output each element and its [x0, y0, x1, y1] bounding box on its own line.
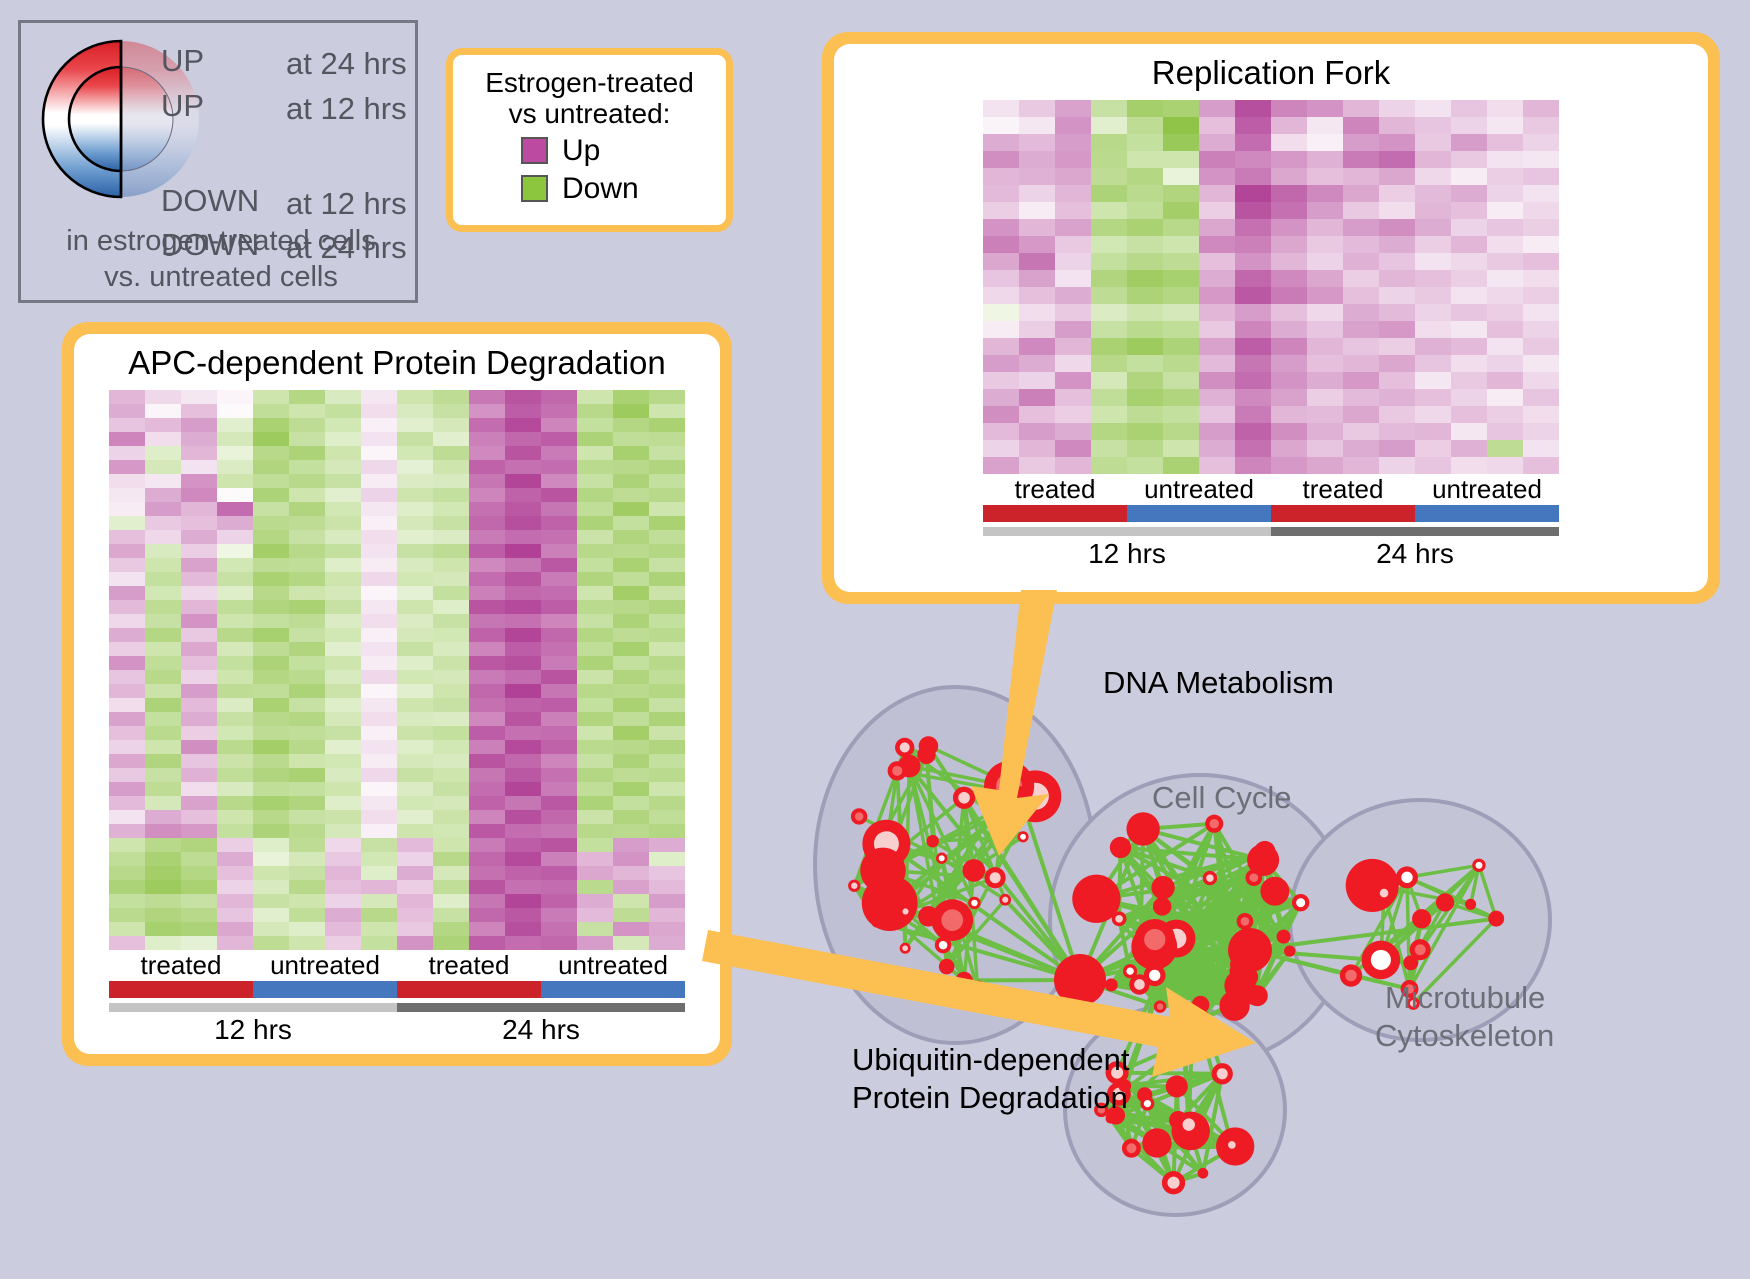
- heatmap-cell: [289, 628, 325, 642]
- network-node[interactable]: [936, 853, 947, 864]
- heatmap-cell: [1055, 389, 1091, 406]
- heatmap-cell: [1271, 236, 1307, 253]
- heatmap-cell: [361, 558, 397, 572]
- heatmap-cell: [217, 586, 253, 600]
- heatmap-cell: [541, 656, 577, 670]
- network-node[interactable]: [1177, 1113, 1201, 1137]
- network-node[interactable]: [1412, 909, 1431, 928]
- group-label: treated: [983, 474, 1127, 505]
- heatmap-cell: [109, 894, 145, 908]
- heatmap-cell: [289, 670, 325, 684]
- heatmap-cell: [1127, 389, 1163, 406]
- heatmap-cell: [433, 502, 469, 516]
- heatmap-cell: [1379, 219, 1415, 236]
- heatmap-cell: [541, 474, 577, 488]
- heatmap-cell: [469, 810, 505, 824]
- heatmap-cell: [613, 782, 649, 796]
- network-node[interactable]: [917, 746, 935, 764]
- heatmap-cell: [217, 936, 253, 950]
- heatmap-cell: [217, 712, 253, 726]
- heatmap-cell: [397, 418, 433, 432]
- heatmap-cell: [1127, 134, 1163, 151]
- heatmap-cell: [145, 432, 181, 446]
- heatmap-cell: [505, 474, 541, 488]
- heatmap-cell: [1199, 151, 1235, 168]
- heatmap-cell: [145, 684, 181, 698]
- heatmap-cell: [397, 740, 433, 754]
- heatmap-cell: [325, 908, 361, 922]
- heatmap-cell: [1451, 304, 1487, 321]
- heatmap-cell: [541, 866, 577, 880]
- heatmap-cell: [181, 824, 217, 838]
- heatmap-cell: [505, 768, 541, 782]
- heatmap-cell: [1199, 389, 1235, 406]
- heatmap-cell: [289, 418, 325, 432]
- network-node[interactable]: [1245, 869, 1262, 886]
- heatmap-cell: [577, 488, 613, 502]
- heatmap-cell: [361, 894, 397, 908]
- network-node[interactable]: [1140, 1097, 1154, 1111]
- heatmap-cell: [613, 488, 649, 502]
- network-node[interactable]: [1260, 877, 1289, 906]
- heatmap-cell: [1091, 185, 1127, 202]
- heatmap-cell: [649, 432, 685, 446]
- heatmap-cell: [541, 824, 577, 838]
- heatmap-cell: [1127, 406, 1163, 423]
- heatmap-cell: [505, 922, 541, 936]
- heatmap-cell: [541, 628, 577, 642]
- heatmap-cell: [1163, 185, 1199, 202]
- network-node[interactable]: [895, 738, 914, 757]
- heatmap-cell: [1415, 338, 1451, 355]
- heatmap-cell: [1091, 151, 1127, 168]
- network-node[interactable]: [1472, 859, 1485, 872]
- heatmap-cell: [433, 768, 469, 782]
- heatmap-cell: [1523, 270, 1559, 287]
- heatmap-cell: [181, 754, 217, 768]
- heatmap-cell: [109, 390, 145, 404]
- heatmap-cell: [505, 810, 541, 824]
- network-node[interactable]: [1362, 941, 1401, 980]
- heatmap-cell: [613, 600, 649, 614]
- heatmap-cell: [1127, 117, 1163, 134]
- heatmap-cell: [397, 600, 433, 614]
- network-node[interactable]: [1110, 837, 1131, 858]
- node-outer: [1260, 877, 1289, 906]
- heatmap-cell: [541, 530, 577, 544]
- legend-spacer: [161, 129, 411, 185]
- heatmap-cell: [325, 474, 361, 488]
- heatmap-cell: [1451, 151, 1487, 168]
- heatmap-cell: [613, 684, 649, 698]
- heatmap-cell: [397, 838, 433, 852]
- network-node[interactable]: [1122, 1139, 1141, 1158]
- panel-title: Replication Fork: [1152, 54, 1390, 92]
- heatmap-cell: [1307, 389, 1343, 406]
- heatmap-cell: [253, 768, 289, 782]
- heatmap-cell: [577, 642, 613, 656]
- heatmap-cell: [181, 502, 217, 516]
- heatmap-cell: [613, 516, 649, 530]
- heatmap-cell: [1199, 219, 1235, 236]
- heatmap-cell: [983, 253, 1019, 270]
- heatmap-cell: [469, 838, 505, 852]
- timepoint-label: 24 hrs: [1271, 536, 1559, 570]
- heatmap-cell: [181, 852, 217, 866]
- heatmap-cell: [649, 824, 685, 838]
- heatmap-cell: [1415, 423, 1451, 440]
- heatmap-cell: [1379, 202, 1415, 219]
- network-node[interactable]: [1162, 1171, 1185, 1194]
- heatmap-cell: [577, 838, 613, 852]
- heatmap-cell: [145, 530, 181, 544]
- heatmap-cell: [145, 656, 181, 670]
- network-node[interactable]: [1346, 859, 1399, 912]
- heatmap-cell: [577, 936, 613, 950]
- heatmap-cell: [1271, 406, 1307, 423]
- heatmap-cell: [289, 614, 325, 628]
- heatmap-cell: [1091, 321, 1127, 338]
- heatmap-cell: [253, 558, 289, 572]
- heatmap-cell: [361, 698, 397, 712]
- network-node[interactable]: [968, 897, 981, 910]
- heatmap-cell: [1199, 100, 1235, 117]
- network-node[interactable]: [985, 867, 1006, 888]
- heatmap-cell: [397, 894, 433, 908]
- heatmap-cell: [649, 670, 685, 684]
- heatmap-cell: [1271, 355, 1307, 372]
- heatmap-cell: [505, 824, 541, 838]
- heatmap-cell: [577, 446, 613, 460]
- heatmap-cell: [361, 446, 397, 460]
- heatmap-cell: [361, 684, 397, 698]
- heatmap-cell: [983, 287, 1019, 304]
- heatmap-cell: [1091, 406, 1127, 423]
- heatmap-cell: [289, 936, 325, 950]
- heatmap-cell: [325, 390, 361, 404]
- heatmap-cell: [181, 516, 217, 530]
- up-down-key-inner: Estrogen-treated vs untreated: Up Down: [453, 55, 726, 225]
- heatmap-cell: [289, 586, 325, 600]
- node-inner: [1127, 1143, 1137, 1153]
- heatmap-cell: [1235, 355, 1271, 372]
- heatmap-cell: [505, 880, 541, 894]
- heatmap-cell: [397, 656, 433, 670]
- heatmap-cell: [325, 614, 361, 628]
- heatmap-cell: [1451, 389, 1487, 406]
- network-node[interactable]: [927, 835, 939, 847]
- heatmap-cell: [613, 460, 649, 474]
- network-node[interactable]: [1284, 945, 1295, 956]
- heatmap-cell: [1271, 389, 1307, 406]
- heatmap-cell: [649, 838, 685, 852]
- heatmap-cell: [217, 460, 253, 474]
- heatmap-cell: [397, 530, 433, 544]
- heatmap-cell: [253, 782, 289, 796]
- network-node[interactable]: [851, 808, 867, 824]
- network-node[interactable]: [1142, 1128, 1171, 1157]
- heatmap-cell: [325, 894, 361, 908]
- heatmap-cell: [325, 880, 361, 894]
- heatmap-cell: [1019, 100, 1055, 117]
- heatmap-cell: [983, 202, 1019, 219]
- heatmap-cell: [109, 768, 145, 782]
- heatmap-cell: [983, 406, 1019, 423]
- network-node[interactable]: [1205, 815, 1223, 833]
- heatmap-cell: [505, 838, 541, 852]
- network-node[interactable]: [1153, 897, 1172, 916]
- network-node[interactable]: [1396, 866, 1418, 888]
- node-outer: [1142, 1128, 1171, 1157]
- heatmap-cell: [541, 642, 577, 656]
- heatmap-cell: [433, 740, 469, 754]
- group-label: untreated: [1127, 474, 1271, 505]
- heatmap-cell: [1307, 287, 1343, 304]
- heatmap-cell: [109, 810, 145, 824]
- heatmap-cell: [613, 558, 649, 572]
- heatmap-cell: [289, 544, 325, 558]
- heatmap-cell: [109, 740, 145, 754]
- heatmap-cell: [1271, 440, 1307, 457]
- heatmap-cell: [1523, 134, 1559, 151]
- heatmap-cell: [325, 726, 361, 740]
- heatmap-cell: [433, 418, 469, 432]
- node-inner: [1144, 1100, 1151, 1107]
- heatmap-cell: [505, 628, 541, 642]
- network-node[interactable]: [1151, 876, 1174, 899]
- heatmap-cell: [649, 768, 685, 782]
- heatmap-cell: [1487, 457, 1523, 474]
- heatmap-cell: [1091, 168, 1127, 185]
- heatmap-cell: [577, 908, 613, 922]
- heatmap-cell: [1163, 440, 1199, 457]
- heatmap-cell: [505, 726, 541, 740]
- network-node[interactable]: [1254, 841, 1275, 862]
- heatmap-cell: [181, 600, 217, 614]
- heatmap-cell: [217, 614, 253, 628]
- network-node[interactable]: [1203, 871, 1217, 885]
- network-node[interactable]: [1436, 893, 1454, 911]
- heatmap-cell: [1055, 423, 1091, 440]
- heatmap-cell: [181, 404, 217, 418]
- heatmap-cell: [1487, 236, 1523, 253]
- heatmap-cell: [541, 782, 577, 796]
- network-node[interactable]: [1277, 930, 1291, 944]
- heatmap-cell: [541, 572, 577, 586]
- heatmap-cell: [505, 586, 541, 600]
- heatmap-cell: [469, 698, 505, 712]
- heatmap-cell: [145, 726, 181, 740]
- heatmap-cell: [1523, 185, 1559, 202]
- network-node[interactable]: [1225, 1138, 1240, 1153]
- network-node[interactable]: [963, 859, 986, 882]
- heatmap-cell: [1127, 270, 1163, 287]
- treatment-color-bar: [109, 981, 685, 998]
- network-node[interactable]: [1465, 899, 1476, 910]
- heatmap-cell: [505, 796, 541, 810]
- heatmap-cell: [1199, 355, 1235, 372]
- heatmap-cell: [983, 355, 1019, 372]
- heatmap-cell: [289, 754, 325, 768]
- group-label-row: treateduntreatedtreateduntreated: [109, 950, 685, 981]
- heatmap-cell: [145, 922, 181, 936]
- heatmap-cell: [1019, 457, 1055, 474]
- heatmap-cell: [1451, 355, 1487, 372]
- heatmap-cell: [433, 852, 469, 866]
- heatmap-cell: [1487, 253, 1523, 270]
- heatmap-cell: [145, 502, 181, 516]
- heatmap-cell: [397, 502, 433, 516]
- heatmap-cell: [1091, 100, 1127, 117]
- heatmap-cell: [397, 446, 433, 460]
- heatmap-cell: [1415, 389, 1451, 406]
- heatmap-cell: [433, 698, 469, 712]
- heatmap-cell: [397, 866, 433, 880]
- heatmap-cell: [1091, 355, 1127, 372]
- network-node[interactable]: [999, 894, 1011, 906]
- heatmap-cell: [505, 894, 541, 908]
- heatmap-cell: [1307, 100, 1343, 117]
- heatmap-cell: [613, 852, 649, 866]
- heatmap-cell: [361, 502, 397, 516]
- heatmap-cell: [1307, 372, 1343, 389]
- heatmap-cell: [1415, 355, 1451, 372]
- heatmap-cell: [361, 544, 397, 558]
- heatmap-cell: [253, 670, 289, 684]
- heatmap-cell: [217, 726, 253, 740]
- heatmap-cell: [469, 782, 505, 796]
- heatmap-cell: [1055, 202, 1091, 219]
- network-node[interactable]: [1292, 894, 1309, 911]
- heatmap-cell: [253, 726, 289, 740]
- node-outer: [917, 746, 935, 764]
- treatment-bar-segment: [1415, 505, 1559, 522]
- heatmap-cell: [397, 586, 433, 600]
- heatmap-cell: [109, 698, 145, 712]
- heatmap-cell: [1019, 202, 1055, 219]
- heatmap-cell: [1091, 389, 1127, 406]
- heatmap-cell: [181, 558, 217, 572]
- network-node[interactable]: [1112, 911, 1127, 926]
- heatmap-cell: [1163, 117, 1199, 134]
- network-node[interactable]: [918, 906, 939, 927]
- heatmap-cell: [253, 432, 289, 446]
- network-node[interactable]: [1376, 885, 1392, 901]
- heatmap-cell: [541, 712, 577, 726]
- heatmap-cell: [433, 894, 469, 908]
- heatmap-cell: [361, 614, 397, 628]
- heatmap-cell: [361, 488, 397, 502]
- arrow-to-dna-metabolism: [965, 590, 1105, 860]
- heatmap-cell: [145, 852, 181, 866]
- heatmap-cell: [1343, 100, 1379, 117]
- heatmap-cell: [433, 460, 469, 474]
- network-node[interactable]: [1340, 964, 1362, 986]
- heatmap-cell: [983, 270, 1019, 287]
- heatmap-cell: [1235, 321, 1271, 338]
- network-node[interactable]: [848, 880, 860, 892]
- heatmap-cell: [1235, 270, 1271, 287]
- heatmap-cell: [1343, 457, 1379, 474]
- heatmap-cell: [289, 460, 325, 474]
- heatmap-cell: [181, 530, 217, 544]
- network-node[interactable]: [1410, 939, 1431, 960]
- legend-row: DOWN at 12 hrs: [161, 185, 411, 224]
- heatmap-cell: [1199, 202, 1235, 219]
- heatmap-cell: [649, 586, 685, 600]
- network-node[interactable]: [1488, 911, 1504, 927]
- heatmap-cell: [1271, 134, 1307, 151]
- heatmap-cell: [505, 600, 541, 614]
- heatmap-cell: [1235, 338, 1271, 355]
- heatmap-cell: [1379, 168, 1415, 185]
- heatmap-cell: [253, 838, 289, 852]
- heatmap-cell: [1127, 168, 1163, 185]
- heatmap-cell: [541, 502, 577, 516]
- heatmap-cell: [1451, 168, 1487, 185]
- heatmap-cell: [1163, 406, 1199, 423]
- heatmap-cell: [217, 544, 253, 558]
- cluster-label-microtubule-line1: Microtubule: [1385, 980, 1535, 1016]
- heatmap-cell: [145, 810, 181, 824]
- network-node[interactable]: [1198, 1168, 1209, 1179]
- treatment-bar-segment: [983, 505, 1127, 522]
- heatmap-cell: [253, 516, 289, 530]
- network-node[interactable]: [1126, 812, 1159, 845]
- treatment-bar-segment: [541, 981, 685, 998]
- network-node[interactable]: [900, 906, 912, 918]
- heatmap-cell: [1163, 372, 1199, 389]
- heatmap-cell: [1235, 406, 1271, 423]
- heatmap-cell: [613, 642, 649, 656]
- heatmap-cell: [361, 418, 397, 432]
- heatmap-cell: [289, 768, 325, 782]
- heatmap-cell: [505, 656, 541, 670]
- heatmap-cell: [649, 684, 685, 698]
- heatmap-cell: [1235, 100, 1271, 117]
- heatmap-cell: [433, 642, 469, 656]
- heatmap-cell: [1127, 253, 1163, 270]
- heatmap-cell: [1487, 321, 1523, 338]
- heatmap-cell: [1055, 372, 1091, 389]
- heatmap-cell: [505, 516, 541, 530]
- heatmap-cell: [469, 642, 505, 656]
- heatmap-cell: [145, 936, 181, 950]
- heatmap-cell: [433, 908, 469, 922]
- heatmap-cell: [469, 530, 505, 544]
- heatmap-cell: [145, 740, 181, 754]
- heatmap-cell: [181, 614, 217, 628]
- heatmap-cell: [649, 544, 685, 558]
- network-node[interactable]: [888, 761, 907, 780]
- heatmap-cell: [289, 446, 325, 460]
- heatmap-cell: [1451, 117, 1487, 134]
- heatmap-cell: [433, 432, 469, 446]
- heatmap-cell: [1487, 185, 1523, 202]
- heatmap-cell: [1343, 338, 1379, 355]
- heatmap-cell: [325, 642, 361, 656]
- heatmap-cell: [253, 474, 289, 488]
- timepoint-bar-segment: [1271, 527, 1559, 536]
- heatmap-cell: [577, 656, 613, 670]
- heatmap-cell: [1487, 304, 1523, 321]
- heatmap-cell: [1415, 287, 1451, 304]
- heatmap-cell: [217, 838, 253, 852]
- network-node[interactable]: [860, 848, 905, 893]
- heatmap-cell: [109, 600, 145, 614]
- heatmap-cell: [289, 810, 325, 824]
- heatmap-cell: [1487, 406, 1523, 423]
